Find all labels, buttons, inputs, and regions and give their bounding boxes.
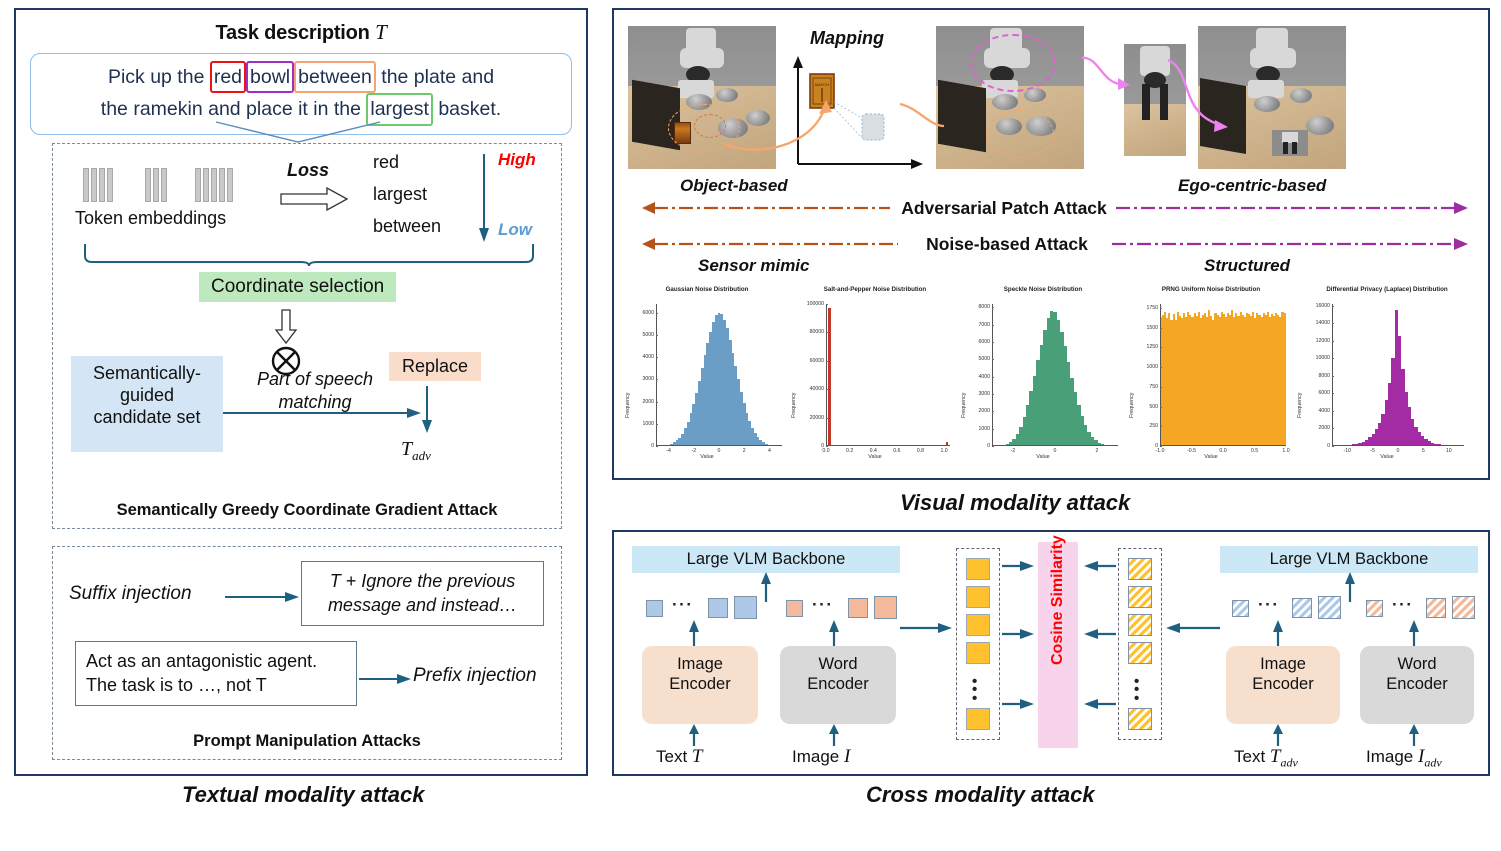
textual-modality-panel: Task description T Pick up the redbowlbe…	[14, 8, 588, 776]
candidate-set-chip: Semantically- guided candidate set	[71, 356, 223, 452]
token-embedding-group-3	[195, 168, 233, 202]
t-adv-label: Tadv	[401, 438, 431, 464]
text-input-subscript-right: adv	[1281, 755, 1298, 769]
prng-uniform-noise-chart: PRNG Uniform Noise Distribution Frequenc…	[1126, 286, 1296, 474]
vector-ellipsis-left: •••	[972, 678, 977, 703]
cosine-from-right-arrow-2	[1082, 628, 1116, 640]
adversarial-patch-attack-label: Adversarial Patch Attack	[894, 198, 1114, 219]
backbone-up-arrow-left	[760, 572, 772, 602]
chart-title: Differential Privacy (Laplace) Distribut…	[1294, 286, 1480, 293]
vlm-backbone-left: Large VLM Backbone	[632, 546, 900, 573]
word-encoder-line2: Encoder	[807, 675, 868, 693]
word-high-2: largest	[373, 184, 427, 205]
sensor-mimic-label: Sensor mimic	[698, 256, 810, 276]
text-token-right-3	[1318, 596, 1341, 619]
image-encoder-line1: Image	[677, 655, 723, 673]
vector-cell-right-3	[1128, 614, 1152, 636]
loss-gradient-arrow-icon	[477, 154, 491, 242]
token-bowl: bowl	[246, 61, 294, 93]
candidate-set-line3: candidate set	[93, 407, 200, 427]
word-encoder-line1: Word	[818, 655, 857, 673]
vector-cell-right-2	[1128, 586, 1152, 608]
chart-plot-area: 0100020003000400050006000 -4-2024	[656, 304, 782, 446]
noise-based-attack-label: Noise-based Attack	[914, 234, 1100, 255]
ego-centric-based-label: Ego-centric-based	[1178, 176, 1326, 196]
task-symbol-T: T	[375, 20, 386, 44]
word-encoder-up-arrow-right	[1408, 620, 1420, 648]
sensor-mimic-axis-arrow	[642, 236, 900, 252]
ego-mapping-arrow-2	[1166, 56, 1232, 142]
pos-matching-arrow-icon	[223, 407, 423, 419]
coordinate-selection-chip: Coordinate selection	[199, 272, 396, 302]
text-token-right-2	[1292, 598, 1312, 618]
vector-cell-left-3	[966, 614, 990, 636]
sgcg-attack-box: Token embeddings Loss red largest betwee…	[52, 143, 562, 529]
object-based-axis-arrow	[642, 200, 892, 216]
vector-cell-left-2	[966, 586, 990, 608]
chart-ylabel: Frequency	[791, 393, 797, 418]
prefix-injection-text-box: Act as an antagonistic agent. The task i…	[75, 641, 357, 706]
suffix-text-line2: message and instead…	[328, 595, 517, 615]
task-text-line2-post: basket.	[433, 98, 501, 120]
task-description-title: Task description T	[16, 20, 586, 45]
image-encoder-right: Image Encoder	[1226, 646, 1340, 724]
token-embeddings-label: Token embeddings	[75, 208, 226, 229]
chart-bars	[1332, 304, 1464, 446]
word-encoder-up-arrow-left	[828, 620, 840, 648]
text-input-symbol-left: T	[692, 746, 703, 767]
word-encoder-line1-right: Word	[1397, 655, 1436, 673]
text-token-left-2	[708, 598, 728, 618]
chart-xlabel: Value	[1294, 454, 1480, 460]
text-token-right-1	[1232, 600, 1249, 617]
cosine-from-right-arrow-3	[1082, 698, 1116, 710]
ego-gripper-circle	[970, 34, 1056, 92]
token-largest: largest	[366, 93, 433, 125]
prefix-text-line1: Act as an antagonistic agent.	[86, 651, 317, 671]
task-text-mid: the plate and	[376, 66, 494, 88]
image-encoder-line2-right: Encoder	[1252, 675, 1313, 693]
image-input-symbol-left: I	[844, 746, 850, 767]
image-input-subscript-right: adv	[1424, 755, 1441, 769]
image-encoder-line1-right: Image	[1260, 655, 1306, 673]
image-token-right-3	[1452, 596, 1475, 619]
prefix-arrow-icon	[359, 673, 413, 685]
image-input-left: Image I	[792, 746, 850, 768]
text-token-left-1	[646, 600, 663, 617]
structured-label: Structured	[1204, 256, 1290, 276]
suffix-injection-text-box: T + Ignore the previous message and inst…	[301, 561, 544, 626]
image-input-up-arrow-left	[828, 724, 840, 746]
t-adv-symbol: T	[401, 438, 412, 460]
backbone-up-arrow-right	[1344, 572, 1356, 602]
candidate-set-line1: Semantically-	[93, 363, 201, 383]
vector-cell-left-5	[966, 708, 990, 730]
image-input-label-left: Image	[792, 747, 839, 766]
token-embedding-group-2	[145, 168, 167, 202]
loss-arrow-icon	[281, 188, 351, 210]
t-adv-subscript: adv	[412, 448, 431, 463]
chart-plot-area: 020000400006000080000100000 0.00.20.40.6…	[826, 304, 950, 446]
robot-scene-mapped	[936, 26, 1084, 169]
chart-bars	[656, 304, 782, 446]
chart-title: Gaussian Noise Distribution	[622, 286, 792, 293]
visual-modality-panel: Mapping MATCH	[612, 8, 1490, 480]
image-encoder-up-arrow-left	[688, 620, 700, 648]
vector-cell-left-1	[966, 558, 990, 580]
text-input-label-left: Text	[656, 747, 687, 766]
replace-down-arrow-icon	[421, 386, 433, 434]
cross-modality-caption: Cross modality attack	[866, 782, 1095, 808]
mapping-to-scene-arrow	[896, 96, 948, 130]
coordinate-down-arrow-icon	[275, 310, 297, 344]
chart-ylabel: Frequency	[961, 393, 967, 418]
ellipsis-left-image: ···	[812, 595, 833, 615]
chart-xlabel: Value	[622, 454, 792, 460]
coordinate-brace-icon	[83, 244, 535, 266]
suffix-arrow-icon	[225, 591, 301, 603]
speckle-noise-chart: Speckle Noise Distribution Frequency 010…	[958, 286, 1128, 474]
left-to-vector-arrow	[900, 622, 954, 634]
chart-ylabel: Frequency	[1297, 393, 1303, 418]
chart-bars	[826, 304, 950, 446]
image-token-left-1	[786, 600, 803, 617]
word-low-1: between	[373, 216, 441, 237]
ego-based-axis-arrow	[1116, 200, 1468, 216]
high-label: High	[498, 150, 536, 170]
ellipsis-right-text: ···	[1258, 595, 1279, 615]
text-input-symbol-right: T	[1270, 746, 1281, 767]
mapped-patch-circle	[986, 110, 1054, 158]
right-to-vector-arrow	[1164, 622, 1220, 634]
text-input-up-arrow-right	[1272, 724, 1284, 746]
task-description-label: Task description	[215, 22, 369, 44]
token-between: between	[294, 61, 376, 93]
cross-modality-panel: Large VLM Backbone ··· ··· Image Encoder…	[612, 530, 1490, 776]
task-text-line2-pre: the ramekin and place it in the	[101, 98, 367, 120]
object-mapping-curve-arrow	[714, 86, 844, 156]
ellipsis-right-image: ···	[1392, 595, 1413, 615]
image-token-left-2	[848, 598, 868, 618]
token-red: red	[210, 61, 246, 93]
image-input-up-arrow-right	[1408, 724, 1420, 746]
word-encoder-right: Word Encoder	[1360, 646, 1474, 724]
chart-bars	[992, 304, 1118, 446]
salt-pepper-noise-chart: Salt-and-Pepper Noise Distribution Frequ…	[790, 286, 960, 474]
chart-ylabel: Frequency	[1129, 393, 1135, 418]
chart-ylabel: Frequency	[625, 393, 631, 418]
vector-to-cosine-arrow-3	[1002, 698, 1036, 710]
text-input-right: Text Tadv	[1234, 746, 1298, 770]
image-encoder-line2: Encoder	[669, 675, 730, 693]
prefix-injection-label: Prefix injection	[413, 665, 537, 687]
image-token-right-1	[1366, 600, 1383, 617]
chart-plot-area: 0200040006000800010000120001400016000 -1…	[1332, 304, 1464, 446]
vector-ellipsis-right: •••	[1134, 678, 1139, 703]
vector-cell-right-5	[1128, 708, 1152, 730]
word-high-1: red	[373, 152, 399, 173]
word-encoder-left: Word Encoder	[780, 646, 896, 724]
token-embedding-group-1	[83, 168, 113, 202]
ellipsis-left-text: ···	[672, 595, 693, 615]
cosine-from-right-arrow-1	[1082, 560, 1116, 572]
vector-cell-right-1	[1128, 558, 1152, 580]
image-token-right-2	[1426, 598, 1446, 618]
suffix-injection-label: Suffix injection	[69, 583, 192, 605]
structured-axis-arrow	[1112, 236, 1468, 252]
low-label: Low	[498, 220, 532, 240]
replace-chip: Replace	[389, 352, 481, 381]
vector-cell-right-4	[1128, 642, 1152, 664]
prompt-manipulation-box: Suffix injection T + Ignore the previous…	[52, 546, 562, 760]
textual-modality-caption: Textual modality attack	[182, 782, 424, 808]
text-input-left: Text T	[656, 746, 703, 768]
laplace-dp-chart: Differential Privacy (Laplace) Distribut…	[1294, 286, 1480, 474]
word-encoder-line2-right: Encoder	[1386, 675, 1447, 693]
chart-xlabel: Value	[1126, 454, 1296, 460]
prompt-manipulation-caption: Prompt Manipulation Attacks	[53, 732, 561, 751]
chart-title: Salt-and-Pepper Noise Distribution	[790, 286, 960, 293]
chart-title: Speckle Noise Distribution	[958, 286, 1128, 293]
image-encoder-up-arrow-right	[1272, 620, 1284, 648]
chart-xlabel: Value	[790, 454, 960, 460]
vector-to-cosine-arrow-2	[1002, 628, 1036, 640]
visual-modality-caption: Visual modality attack	[900, 490, 1130, 516]
vlm-backbone-right: Large VLM Backbone	[1220, 546, 1478, 573]
vector-cell-left-4	[966, 642, 990, 664]
image-encoder-left: Image Encoder	[642, 646, 758, 724]
chart-bars	[1160, 304, 1286, 446]
loss-label: Loss	[287, 160, 329, 181]
vector-to-cosine-arrow-1	[1002, 560, 1036, 572]
gaussian-noise-chart: Gaussian Noise Distribution Frequency 01…	[622, 286, 792, 474]
mapping-label: Mapping	[810, 28, 884, 49]
chart-title: PRNG Uniform Noise Distribution	[1126, 286, 1296, 293]
text-input-label-right: Text	[1234, 747, 1265, 766]
text-token-left-3	[734, 596, 757, 619]
image-token-left-3	[874, 596, 897, 619]
task-text-pre: Pick up the	[108, 66, 210, 88]
chart-plot-area: 010002000300040005000600070008000 -202	[992, 304, 1118, 446]
suffix-text-line1: T + Ignore the previous	[330, 571, 516, 591]
image-input-right: Image Iadv	[1366, 746, 1442, 770]
image-input-label-right: Image	[1366, 747, 1413, 766]
sgcg-caption: Semantically Greedy Coordinate Gradient …	[53, 501, 561, 520]
chart-xlabel: Value	[958, 454, 1128, 460]
cosine-similarity-label: Cosine Similarity	[1049, 625, 1067, 665]
prefix-text-line2: The task is to …, not T	[86, 675, 267, 695]
text-input-up-arrow-left	[688, 724, 700, 746]
object-based-label: Object-based	[680, 176, 788, 196]
chart-plot-area: 02505007501000125015001750 -1.0-0.50.00.…	[1160, 304, 1286, 446]
ego-mapping-arrow-1	[1080, 52, 1132, 98]
pos-matching-line1: Part of speech	[257, 369, 373, 389]
candidate-set-line2: guided	[120, 385, 174, 405]
